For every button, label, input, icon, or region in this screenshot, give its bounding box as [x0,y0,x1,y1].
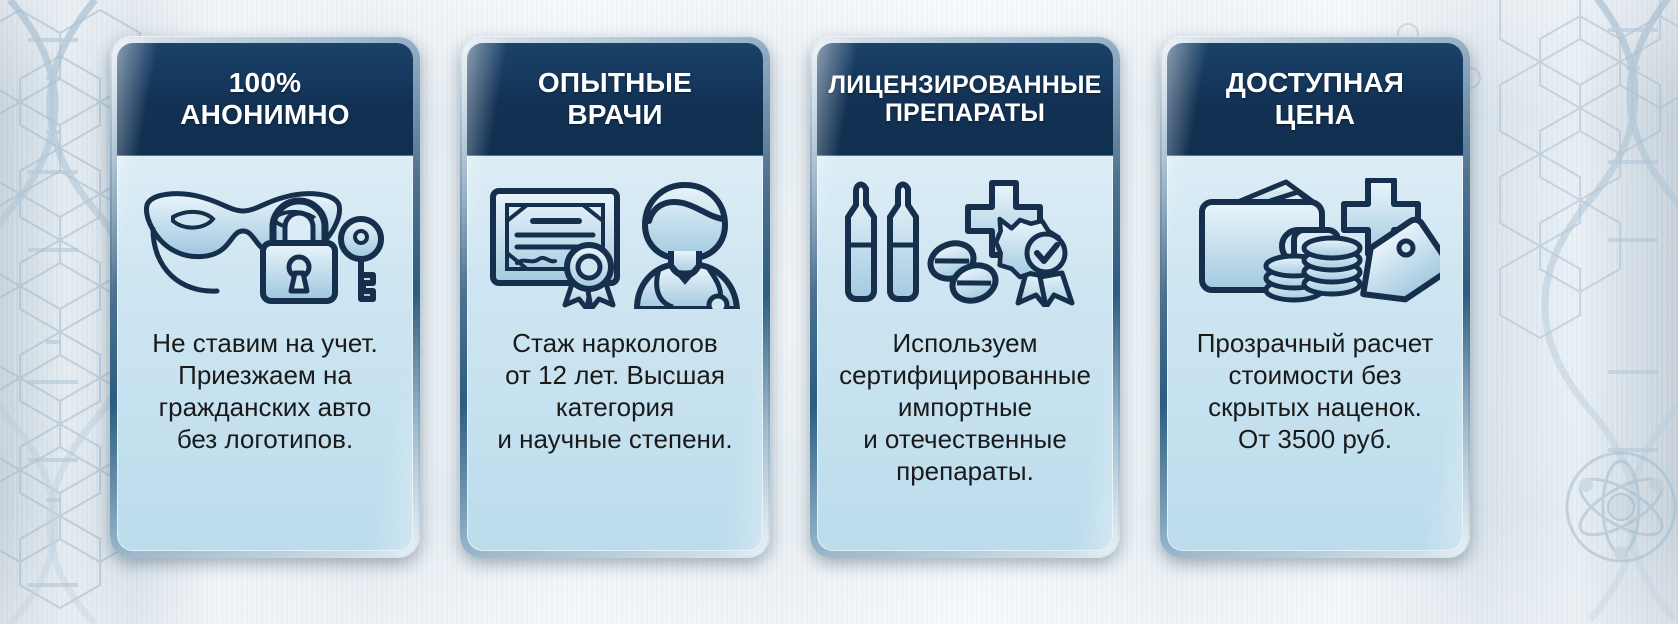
card-title: ОПЫТНЫЕ ВРАЧИ [538,67,692,130]
card-body-text: Не ставим на учет. Приезжаем на гражданс… [117,324,413,551]
card-body-text: Используем сертифицированные импортные и… [817,324,1113,551]
quality-badge-icon [996,219,1072,307]
doctor-icon [637,185,737,309]
card-header: ОПЫТНЫЕ ВРАЧИ [467,43,763,156]
card-body-text: Прозрачный расчет стоимости без скрытых … [1167,324,1463,551]
card-body-text: Стаж наркологов от 12 лет. Высшая катего… [467,324,763,551]
card-title: ДОСТУПНАЯ ЦЕНА [1226,67,1404,130]
feature-card-affordable-price[interactable]: ДОСТУПНАЯ ЦЕНА [1160,36,1470,558]
card-header: 100% АНОНИМНО [117,43,413,156]
padlock-icon [263,201,335,301]
feature-card-experienced-doctors[interactable]: ОПЫТНЫЕ ВРАЧИ [460,36,770,558]
key-hole [355,231,367,243]
ampoule-icon [848,185,874,299]
stethoscope-bell [709,296,727,309]
card-icon-group [117,156,413,324]
feature-card-anonymity[interactable]: 100% АНОНИМНО [110,36,420,558]
card-title: 100% АНОНИМНО [180,67,350,130]
ribbon-seal-icon [565,245,613,309]
card-icon-group [467,156,763,324]
card-title: ЛИЦЕНЗИРОВАННЫЕ ПРЕПАРАТЫ [828,71,1101,128]
ampoule-icon-2 [890,185,916,299]
card-icon-group [1167,156,1463,324]
card-icon-group [817,156,1113,324]
feature-card-licensed-drugs[interactable]: ЛИЦЕНЗИРОВАННЫЕ ПРЕПАРАТЫ [810,36,1120,558]
card-header: ЛИЦЕНЗИРОВАННЫЕ ПРЕПАРАТЫ [817,43,1113,156]
card-header: ДОСТУПНАЯ ЦЕНА [1167,43,1463,156]
feature-cards-row: 100% АНОНИМНО [110,36,1470,558]
